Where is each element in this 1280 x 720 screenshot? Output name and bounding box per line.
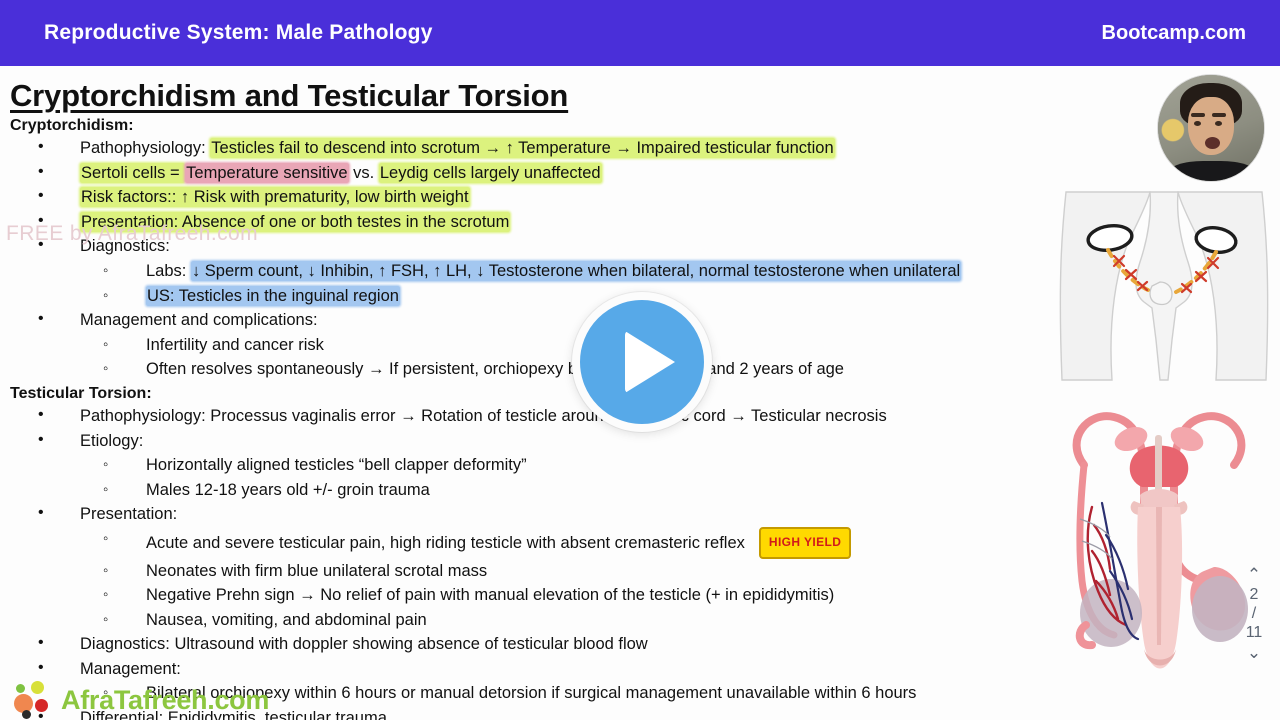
bullet-text: Management: <box>80 660 181 678</box>
page-title: Cryptorchidism and Testicular Torsion <box>10 78 1045 114</box>
bullet-text: Horizontally aligned testicles “bell cla… <box>146 456 527 474</box>
bullet-list: Pathophysiology: Processus vaginalis err… <box>8 404 1045 720</box>
sub-bullet-list: Horizontally aligned testicles “bell cla… <box>8 453 1045 502</box>
highlighted-text: Sertoli cells = <box>80 163 185 183</box>
page-separator: / <box>1252 606 1256 622</box>
presenter-avatar <box>1157 74 1265 182</box>
bullet-item: Diagnostics: Ultrasound with doppler sho… <box>8 632 1045 657</box>
sub-bullet-item: Acute and severe testicular pain, high r… <box>8 527 1045 559</box>
bullet-text: Acute and severe testicular pain, high r… <box>146 534 745 552</box>
sub-bullet-item: US: Testicles in the inguinal region <box>8 284 1045 309</box>
bullet-text: Neonates with firm blue unilateral scrot… <box>146 562 487 580</box>
slide-content: Cryptorchidism and Testicular Torsion Cr… <box>0 66 1045 720</box>
figure-male-anatomy <box>1048 395 1270 695</box>
header-brand: Bootcamp.com <box>1102 22 1246 45</box>
bullet-list: Pathophysiology: Testicles fail to desce… <box>8 136 1045 382</box>
play-button[interactable] <box>572 292 712 432</box>
sub-bullet-item: Bilateral orchiopexy within 6 hours or m… <box>8 681 1045 706</box>
header-bar: Reproductive System: Male Pathology Boot… <box>0 0 1280 66</box>
page-current: 2 <box>1250 585 1259 605</box>
sub-bullet-list: Infertility and cancer riskOften resolve… <box>8 333 1045 382</box>
male-anatomy-diagram-icon <box>1048 395 1270 695</box>
bullet-text: Pathophysiology: Processus vaginalis err… <box>80 407 887 425</box>
bullet-text: Infertility and cancer risk <box>146 336 324 354</box>
page-navigation: ⌃ 2 / 11 ⌄ <box>1239 566 1269 662</box>
bullet-text: Negative Prehn sign → No relief of pain … <box>146 586 834 604</box>
bullet-item: Diagnostics: <box>8 234 1045 259</box>
bullet-item: Sertoli cells = Temperature sensitive vs… <box>8 161 1045 186</box>
bullet-text: Diagnostics: Ultrasound with doppler sho… <box>80 635 648 653</box>
bullet-text: Nausea, vomiting, and abdominal pain <box>146 611 427 629</box>
bullet-text: Often resolves spontaneously → If persis… <box>146 360 844 378</box>
bullet-text: Diagnostics: <box>80 237 170 255</box>
bullet-item: Management: <box>8 657 1045 682</box>
bullet-text: Differential: Epididymitis, testicular t… <box>80 709 387 720</box>
figure-cryptorchidism <box>1056 190 1272 386</box>
sub-bullet-item: Often resolves spontaneously → If persis… <box>8 357 1045 382</box>
highlighted-text: Testicles fail to descend into scrotum →… <box>210 138 834 158</box>
page-down-icon[interactable]: ⌄ <box>1247 644 1261 662</box>
highlighted-text: ↓ Sperm count, ↓ Inhibin, ↑ FSH, ↑ LH, ↓… <box>191 261 961 281</box>
highlighted-text: US: Testicles in the inguinal region <box>146 286 400 306</box>
sub-bullet-item: Males 12-18 years old +/- groin trauma <box>8 478 1045 503</box>
bullet-item: Differential: Epididymitis, testicular t… <box>8 706 1045 720</box>
sub-bullet-item: Neonates with firm blue unilateral scrot… <box>8 559 1045 584</box>
page-total: 11 <box>1246 623 1263 643</box>
cryptorchidism-diagram-icon <box>1056 190 1272 386</box>
bullet-item: Management and complications: <box>8 308 1045 333</box>
bullet-item: Presentation: <box>8 502 1045 527</box>
high-yield-badge: HIGH YIELD <box>759 527 851 559</box>
bullet-item: Risk factors:: ↑ Risk with prematurity, … <box>8 185 1045 210</box>
bullet-text: vs. <box>349 164 379 182</box>
sub-bullet-item: Horizontally aligned testicles “bell cla… <box>8 453 1045 478</box>
bullet-item: Pathophysiology: Processus vaginalis err… <box>8 404 1045 429</box>
bullet-text: Management and complications: <box>80 311 318 329</box>
bullet-item: Presentation: Absence of one or both tes… <box>8 210 1045 235</box>
highlighted-text: Leydig cells largely unaffected <box>379 163 602 183</box>
bullet-text: Pathophysiology: <box>80 139 210 157</box>
bullet-item: Etiology: <box>8 429 1045 454</box>
section-heading: Testicular Torsion: <box>10 385 1045 403</box>
page-up-icon[interactable]: ⌃ <box>1247 566 1261 584</box>
highlighted-text: Presentation: Absence of one or both tes… <box>80 212 510 232</box>
section-heading: Cryptorchidism: <box>10 117 1045 135</box>
slide-canvas: Reproductive System: Male Pathology Boot… <box>0 0 1280 720</box>
bullet-item: Pathophysiology: Testicles fail to desce… <box>8 136 1045 161</box>
sub-bullet-item: Negative Prehn sign → No relief of pain … <box>8 583 1045 608</box>
sub-bullet-list: Bilateral orchiopexy within 6 hours or m… <box>8 681 1045 706</box>
bullet-text: Males 12-18 years old +/- groin trauma <box>146 481 430 499</box>
bullet-text: Bilateral orchiopexy within 6 hours or m… <box>146 684 916 702</box>
play-triangle-icon <box>625 331 675 393</box>
highlighted-text: Temperature sensitive <box>185 163 348 183</box>
sections-container: Cryptorchidism:Pathophysiology: Testicle… <box>8 117 1045 720</box>
sub-bullet-list: Labs: ↓ Sperm count, ↓ Inhibin, ↑ FSH, ↑… <box>8 259 1045 308</box>
highlighted-text: Risk factors:: ↑ Risk with prematurity, … <box>80 187 470 207</box>
sub-bullet-item: Labs: ↓ Sperm count, ↓ Inhibin, ↑ FSH, ↑… <box>8 259 1045 284</box>
sub-bullet-item: Infertility and cancer risk <box>8 333 1045 358</box>
bullet-text: Presentation: <box>80 505 177 523</box>
sub-bullet-list: Acute and severe testicular pain, high r… <box>8 527 1045 632</box>
header-title: Reproductive System: Male Pathology <box>44 21 433 45</box>
bullet-text: Labs: <box>146 262 191 280</box>
sub-bullet-item: Nausea, vomiting, and abdominal pain <box>8 608 1045 633</box>
bullet-text: Etiology: <box>80 432 143 450</box>
